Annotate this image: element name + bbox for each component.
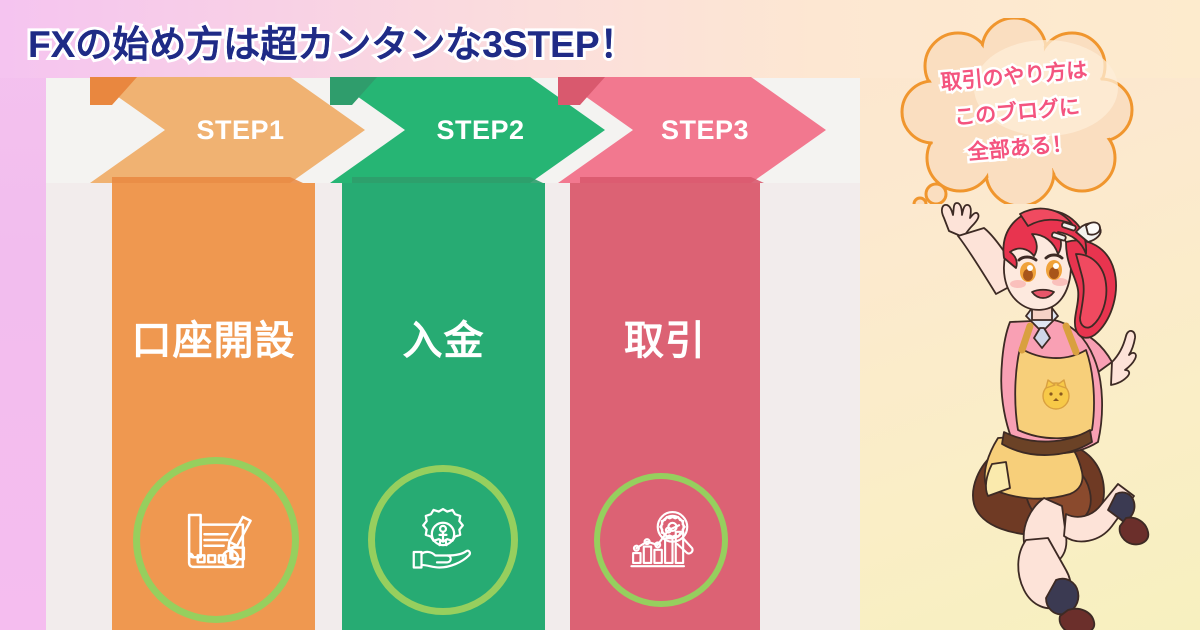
step-2-body-label: 入金 [342,308,545,366]
step-2-icon-circle [368,465,518,615]
step-3-header-chevron: STEP3 [558,77,826,183]
chart-magnifier-gear-icon [620,499,702,581]
anime-girl-waving-icon [880,180,1180,630]
speech-bubble: 取引のやり方は このブログに 全部ある！ [896,18,1138,204]
step-1-header-chevron: STEP1 [90,77,365,183]
step-3-icon-circle [594,473,728,607]
speech-bubble-line-1: 取引のやり方は [939,54,1088,97]
step-1-icon-circle [133,457,299,623]
page-title: FXの始め方は超カンタンな3STEP！ [28,14,637,68]
step-3-header-label: STEP3 [558,77,826,183]
speech-bubble-line-3: 全部ある！ [967,127,1074,166]
step-1-header-label: STEP1 [90,77,365,183]
document-pencil-icon [168,492,264,588]
banner-canvas: FXの始め方は超カンタンな3STEP！ FXの始め方は超カンタンな3STEP！ … [0,0,1200,630]
hand-gear-person-icon [400,497,486,583]
character-illustration [880,180,1180,630]
step-1-body-label: 口座開設 [112,308,315,366]
step-3-body-label: 取引 [570,308,760,366]
speech-bubble-line-2: このブログに [953,91,1081,132]
